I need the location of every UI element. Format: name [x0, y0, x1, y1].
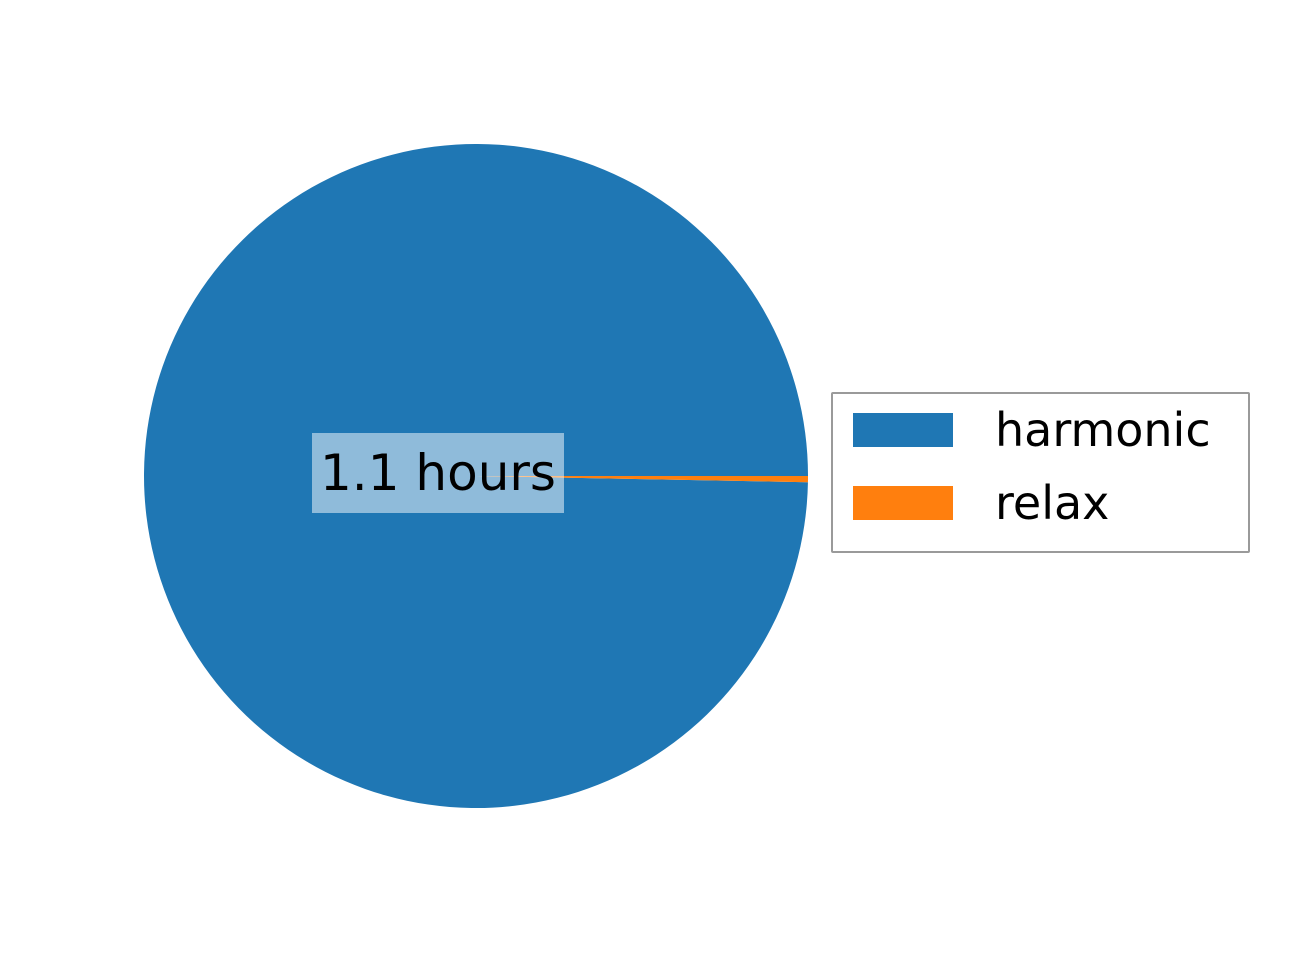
legend-swatch-harmonic: [853, 413, 953, 447]
legend-label-relax: relax: [995, 480, 1109, 526]
chart-legend[interactable]: harmonic relax: [831, 392, 1250, 553]
legend-label-harmonic: harmonic: [995, 407, 1211, 453]
legend-swatch-relax: [853, 486, 953, 520]
legend-item-harmonic[interactable]: harmonic: [853, 407, 1211, 453]
pie-slice-label-harmonic: 1.1 hours: [312, 433, 564, 513]
legend-item-relax[interactable]: relax: [853, 480, 1109, 526]
pie-chart-figure: 1.1 hours harmonic relax: [0, 0, 1307, 951]
